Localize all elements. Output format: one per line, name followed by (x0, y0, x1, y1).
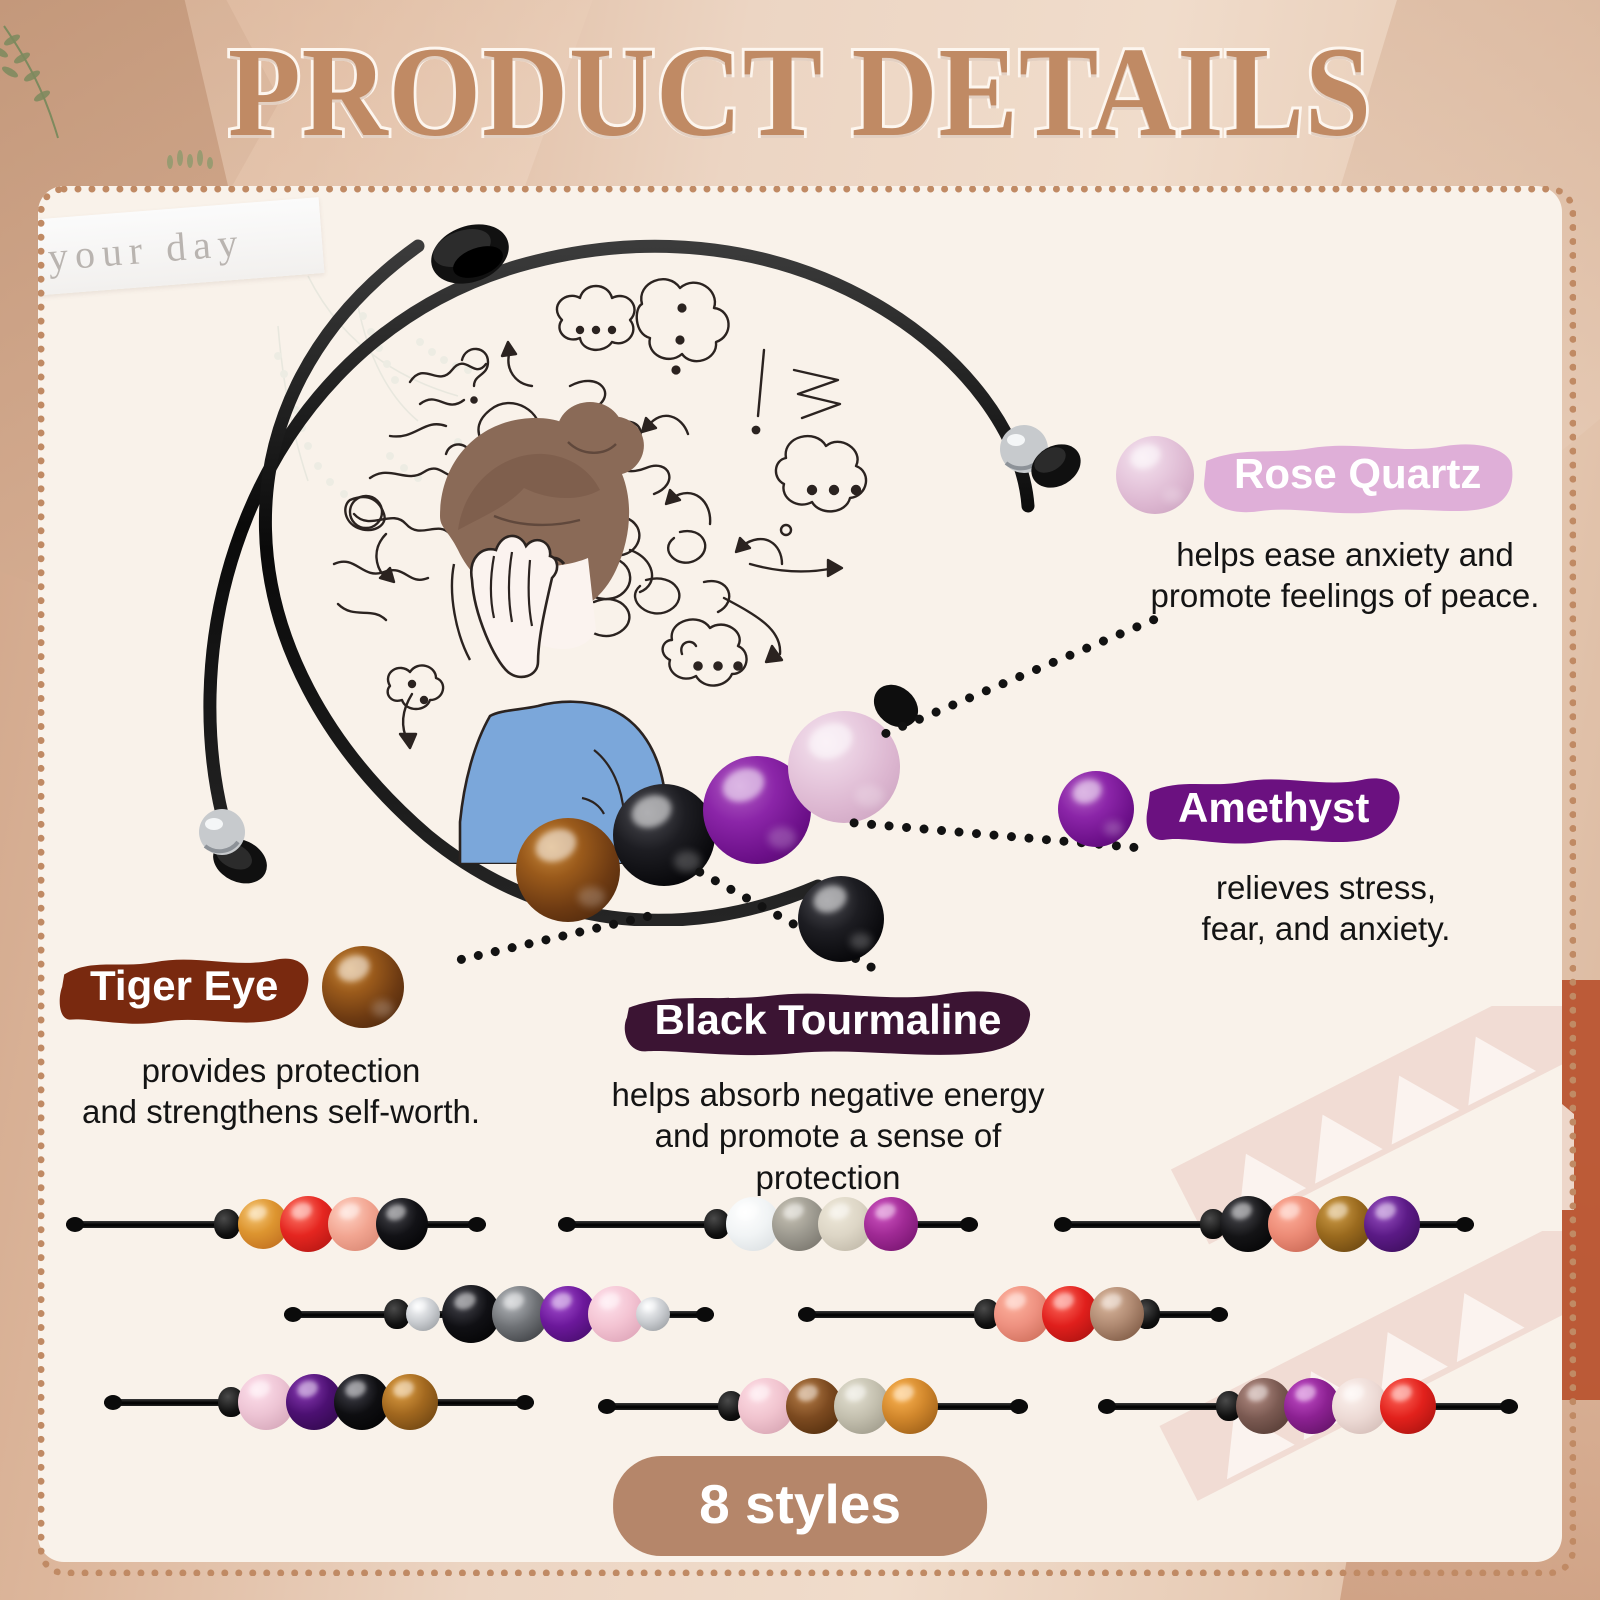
callout-amethyst: Amethyst relieves stress, fear, and anxi… (1058, 771, 1508, 950)
bracelet-style-4 (284, 1276, 714, 1352)
swatch-bead-black-tourmaline (798, 876, 884, 962)
callout-tiger-eye: Tiger Eye provides protection and streng… (56, 946, 496, 1133)
bead (1380, 1378, 1436, 1434)
banner-tiger-eye: Tiger Eye (56, 952, 312, 1022)
bracelet-style-8 (1098, 1368, 1518, 1444)
bead (864, 1197, 918, 1251)
content-card: s your day (38, 186, 1562, 1562)
bead (882, 1378, 938, 1434)
banner-label-tiger-eye: Tiger Eye (90, 962, 278, 1009)
main-bead-rose-quartz (788, 711, 900, 823)
bead (328, 1197, 382, 1251)
swatch-bead-amethyst (1058, 771, 1134, 847)
banner-label-black-tourmaline: Black Tourmaline (655, 996, 1002, 1043)
bead (382, 1374, 438, 1430)
bracelet-style-2 (558, 1186, 978, 1262)
bracelet-style-1 (66, 1186, 486, 1262)
styles-count-badge: 8 styles (613, 1456, 987, 1556)
banner-amethyst: Amethyst (1144, 774, 1403, 844)
main-bead-tiger-eye (516, 818, 620, 922)
swatch-bead-tiger-eye (322, 946, 404, 1028)
description-rose-quartz: helps ease anxiety and promote feelings … (1144, 534, 1546, 617)
description-amethyst: relieves stress, fear, and anxiety. (1144, 867, 1508, 950)
description-tiger-eye: provides protection and strengthens self… (66, 1050, 496, 1133)
banner-label-rose-quartz: Rose Quartz (1234, 450, 1481, 497)
banner-black-tourmaline: Black Tourmaline (621, 986, 1036, 1056)
banner-rose-quartz: Rose Quartz (1200, 440, 1515, 510)
bead (1090, 1287, 1144, 1341)
page-title: PRODUCT DETAILS (56, 28, 1544, 156)
silver-bead-left (199, 809, 245, 855)
bracelet-style-3 (1054, 1186, 1474, 1262)
bead (406, 1297, 440, 1331)
bracelet-style-5 (798, 1276, 1228, 1352)
callout-rose-quartz: Rose Quartz helps ease anxiety and promo… (1116, 436, 1546, 617)
infographic-root: PRODUCT DETAILS s your day (0, 0, 1600, 1600)
bead (636, 1297, 670, 1331)
banner-label-amethyst: Amethyst (1178, 784, 1369, 831)
bracelet-style-7 (598, 1368, 1028, 1444)
swatch-bead-rose-quartz (1116, 436, 1194, 514)
bead (376, 1198, 428, 1250)
bracelet-style-6 (104, 1364, 534, 1440)
bead (1364, 1196, 1420, 1252)
